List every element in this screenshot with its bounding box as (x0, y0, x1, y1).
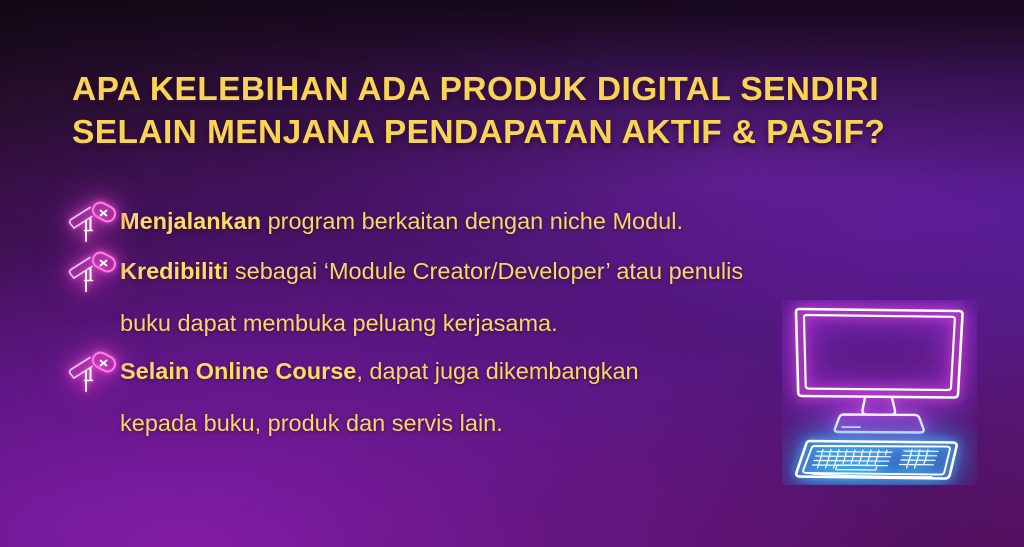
benefits-list: Menjalankan program berkaitan dengan nic… (66, 198, 966, 448)
list-item-continuation: buku dapat membuka peluang kerjasama. (120, 298, 966, 348)
neon-microphone-icon (66, 200, 120, 248)
page-title: APA KELEBIHAN ADA PRODUK DIGITAL SENDIRI… (72, 68, 972, 154)
list-item-text: Selain Online Course, dapat juga dikemba… (120, 348, 966, 395)
neon-microphone-icon (66, 350, 120, 398)
list-item-bold: Selain Online Course (120, 358, 356, 384)
list-item-rest: sebagai ‘Module Creator/Developer’ atau … (228, 258, 743, 284)
list-item-rest: , dapat juga dikembangkan (356, 358, 638, 384)
list-item-rest: program berkaitan dengan niche Modul. (261, 208, 683, 234)
list-item: Selain Online Course, dapat juga dikemba… (66, 348, 966, 398)
list-item-continuation: kepada buku, produk dan servis lain. (120, 398, 966, 448)
list-item: Kredibiliti sebagai ‘Module Creator/Deve… (66, 248, 966, 298)
neon-microphone-icon (66, 250, 120, 298)
list-item-text: Menjalankan program berkaitan dengan nic… (120, 198, 966, 245)
title-line-2: SELAIN MENJANA PENDAPATAN AKTIF & PASIF? (72, 111, 972, 154)
list-item-bold: Menjalankan (120, 208, 261, 234)
title-line-1: APA KELEBIHAN ADA PRODUK DIGITAL SENDIRI (72, 68, 972, 111)
list-item-text: Kredibiliti sebagai ‘Module Creator/Deve… (120, 248, 966, 295)
list-item-bold: Kredibiliti (120, 258, 228, 284)
slide-canvas: APA KELEBIHAN ADA PRODUK DIGITAL SENDIRI… (0, 0, 1024, 547)
list-item: Menjalankan program berkaitan dengan nic… (66, 198, 966, 248)
